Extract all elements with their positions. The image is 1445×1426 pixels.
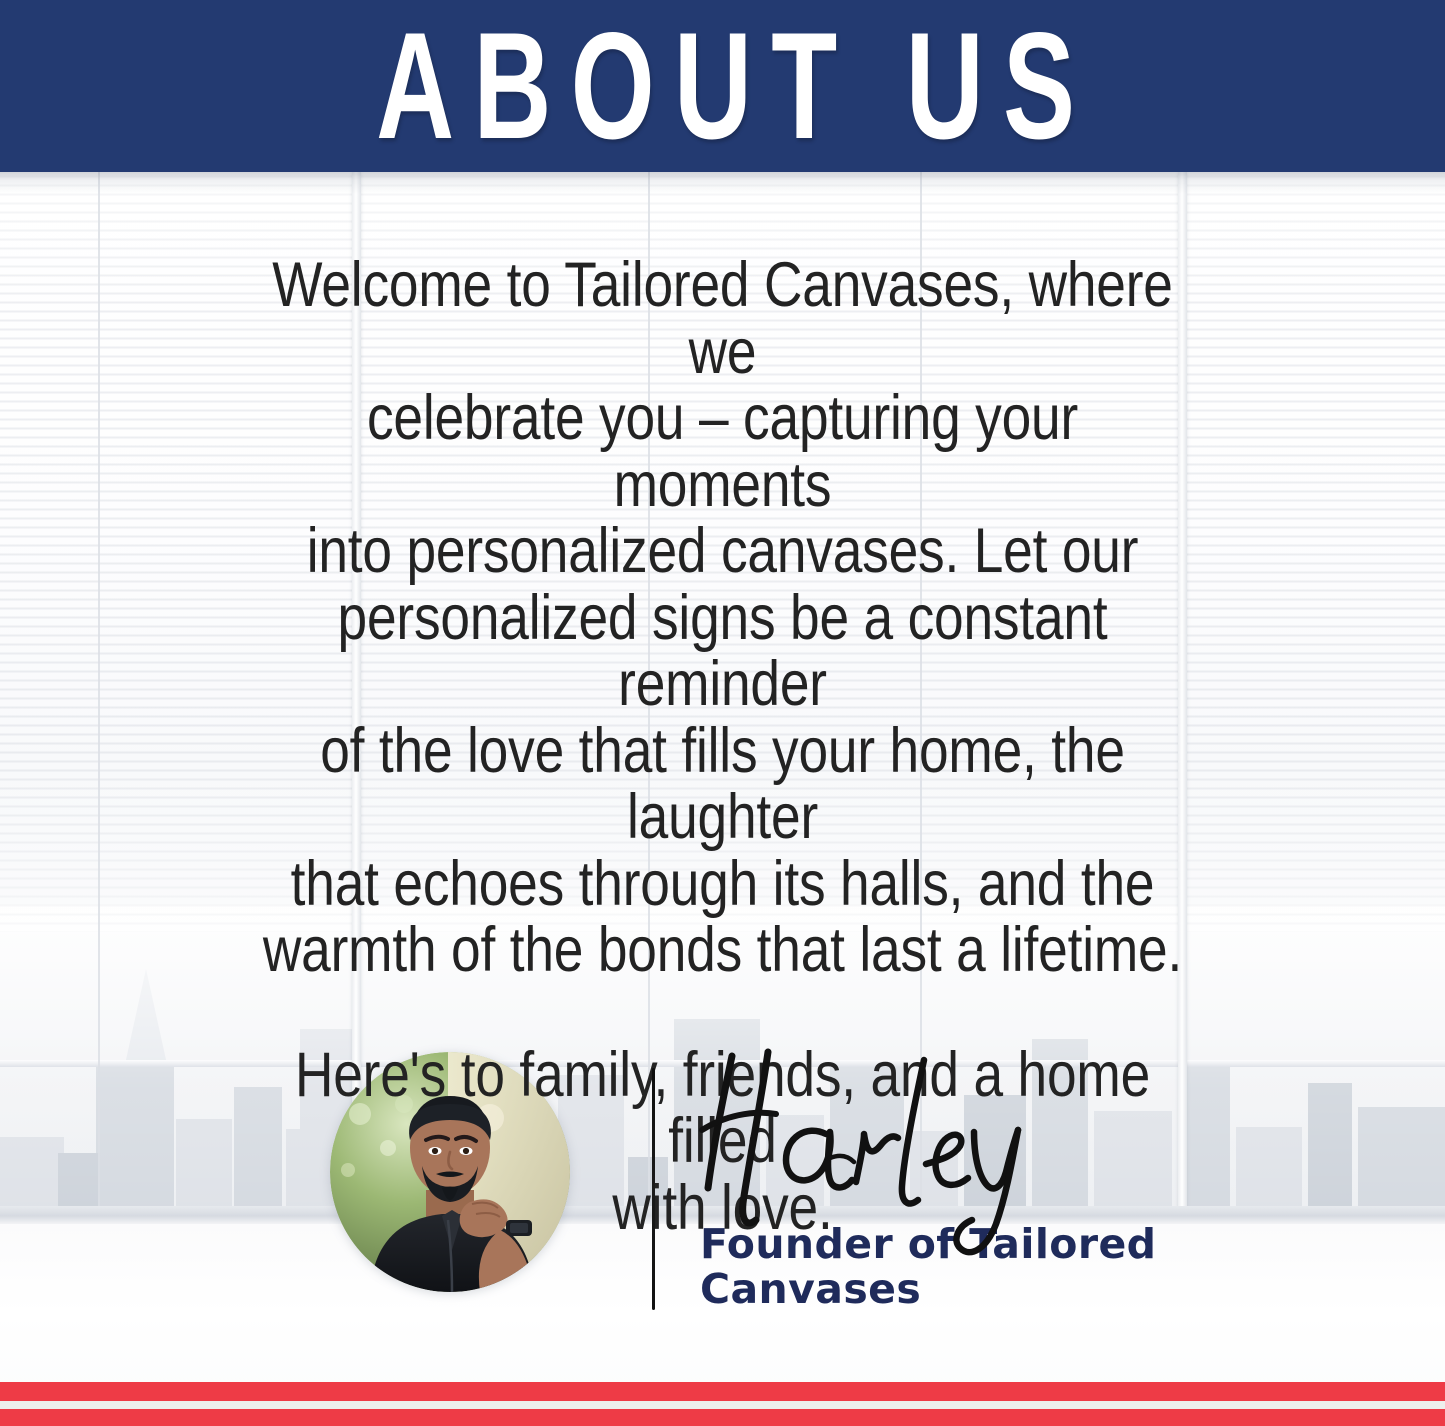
founder-role: Founder of Tailored Canvases [700, 1222, 1170, 1312]
copy-line: Welcome to Tailored Canvases, where we [260, 252, 1185, 385]
copy-line: Here's to family, friends, and a home fi… [260, 1042, 1185, 1175]
footer-rule-top [0, 1382, 1445, 1401]
header-drop-shadow [0, 172, 1445, 194]
window-mullion [98, 172, 100, 1220]
copy-line: personalized signs be a constant reminde… [260, 585, 1185, 718]
page-title: ABOUT US [376, 10, 1094, 162]
about-us-poster: ABOUT US Welcome to Tailored Canvases, w… [0, 0, 1445, 1426]
copy-line: of the love that fills your home, the la… [260, 718, 1185, 851]
footer-rule-gap [0, 1401, 1445, 1409]
copy-line: that echoes through its halls, and the [260, 851, 1185, 918]
paragraph-spacer [175, 984, 1270, 1042]
founder-role-line-2: Canvases [700, 1267, 1170, 1312]
page-header-banner: ABOUT US [0, 0, 1445, 172]
founder-role-line-1: Founder of Tailored [700, 1222, 1170, 1267]
copy-line: into personalized canvases. Let our [260, 518, 1185, 585]
copy-line: warmth of the bonds that last a lifetime… [260, 917, 1185, 984]
signature-divider [652, 1068, 655, 1310]
about-us-body-copy: Welcome to Tailored Canvases, where we c… [175, 252, 1270, 1241]
footer-rule-bottom [0, 1409, 1445, 1426]
copy-line: celebrate you – capturing your moments [260, 385, 1185, 518]
